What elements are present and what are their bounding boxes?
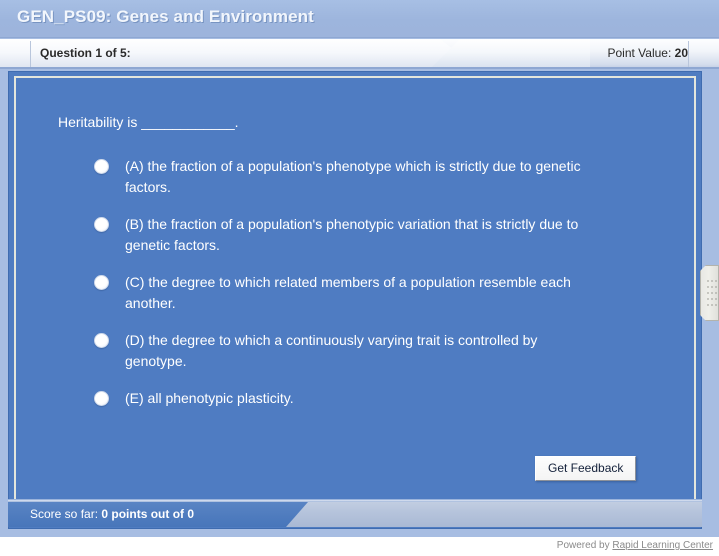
point-value-tab-shape (430, 39, 590, 69)
question-tab-bar: Question 1 of 5: Point Value: 20 (0, 39, 719, 69)
answer-choice-label-c: (C) the degree to which related members … (125, 272, 595, 314)
score-label: Score so far: (30, 507, 98, 521)
question-counter: Question 1 of 5: (40, 46, 131, 60)
answer-choice-d[interactable]: (D) the degree to which a continuously v… (16, 330, 696, 372)
radio-button-icon-c[interactable] (94, 275, 109, 290)
splitter-grip-handle[interactable] (700, 265, 719, 321)
rapid-learning-center-link[interactable]: Rapid Learning Center (612, 540, 713, 551)
tab-divider-right (688, 41, 689, 67)
radio-button-icon-b[interactable] (94, 217, 109, 232)
score-status: Score so far: 0 points out of 0 (30, 507, 194, 521)
answer-choice-a[interactable]: (A) the fraction of a population's pheno… (16, 156, 696, 198)
footer: Powered by Rapid Learning Center (0, 537, 719, 556)
question-panel: Heritability is ____________. (A) the fr… (14, 76, 696, 524)
point-value-number: 20 (675, 46, 688, 60)
get-feedback-button[interactable]: Get Feedback (535, 456, 636, 481)
title-bar: GEN_PS09: Genes and Environment (0, 0, 719, 38)
answer-choice-b[interactable]: (B) the fraction of a population's pheno… (16, 214, 696, 256)
answer-choice-label-b: (B) the fraction of a population's pheno… (125, 214, 595, 256)
footer-credit: Powered by Rapid Learning Center (557, 540, 713, 551)
answer-choice-e[interactable]: (E) all phenotypic plasticity. (16, 388, 696, 412)
quiz-application: GEN_PS09: Genes and Environment Question… (0, 0, 719, 556)
answer-choice-label-e: (E) all phenotypic plasticity. (125, 388, 294, 409)
radio-button-icon-d[interactable] (94, 333, 109, 348)
point-value: Point Value: 20 (607, 46, 688, 60)
answer-choice-label-d: (D) the degree to which a continuously v… (125, 330, 595, 372)
tab-divider-left (30, 41, 31, 67)
grip-dots-icon (706, 278, 718, 310)
score-value: 0 points out of 0 (101, 507, 194, 521)
radio-button-icon-a[interactable] (94, 159, 109, 174)
score-bar: Score so far: 0 points out of 0 (8, 499, 702, 527)
point-value-label: Point Value: (607, 46, 671, 60)
answer-choices-list: (A) the fraction of a population's pheno… (16, 156, 696, 428)
question-stem: Heritability is ____________. (58, 114, 239, 130)
footer-powered-by-label: Powered by (557, 540, 610, 551)
score-bar-top-edge (8, 499, 702, 502)
radio-button-icon-e[interactable] (94, 391, 109, 406)
answer-choice-label-a: (A) the fraction of a population's pheno… (125, 156, 595, 198)
page-title: GEN_PS09: Genes and Environment (17, 7, 314, 27)
answer-choice-c[interactable]: (C) the degree to which related members … (16, 272, 696, 314)
